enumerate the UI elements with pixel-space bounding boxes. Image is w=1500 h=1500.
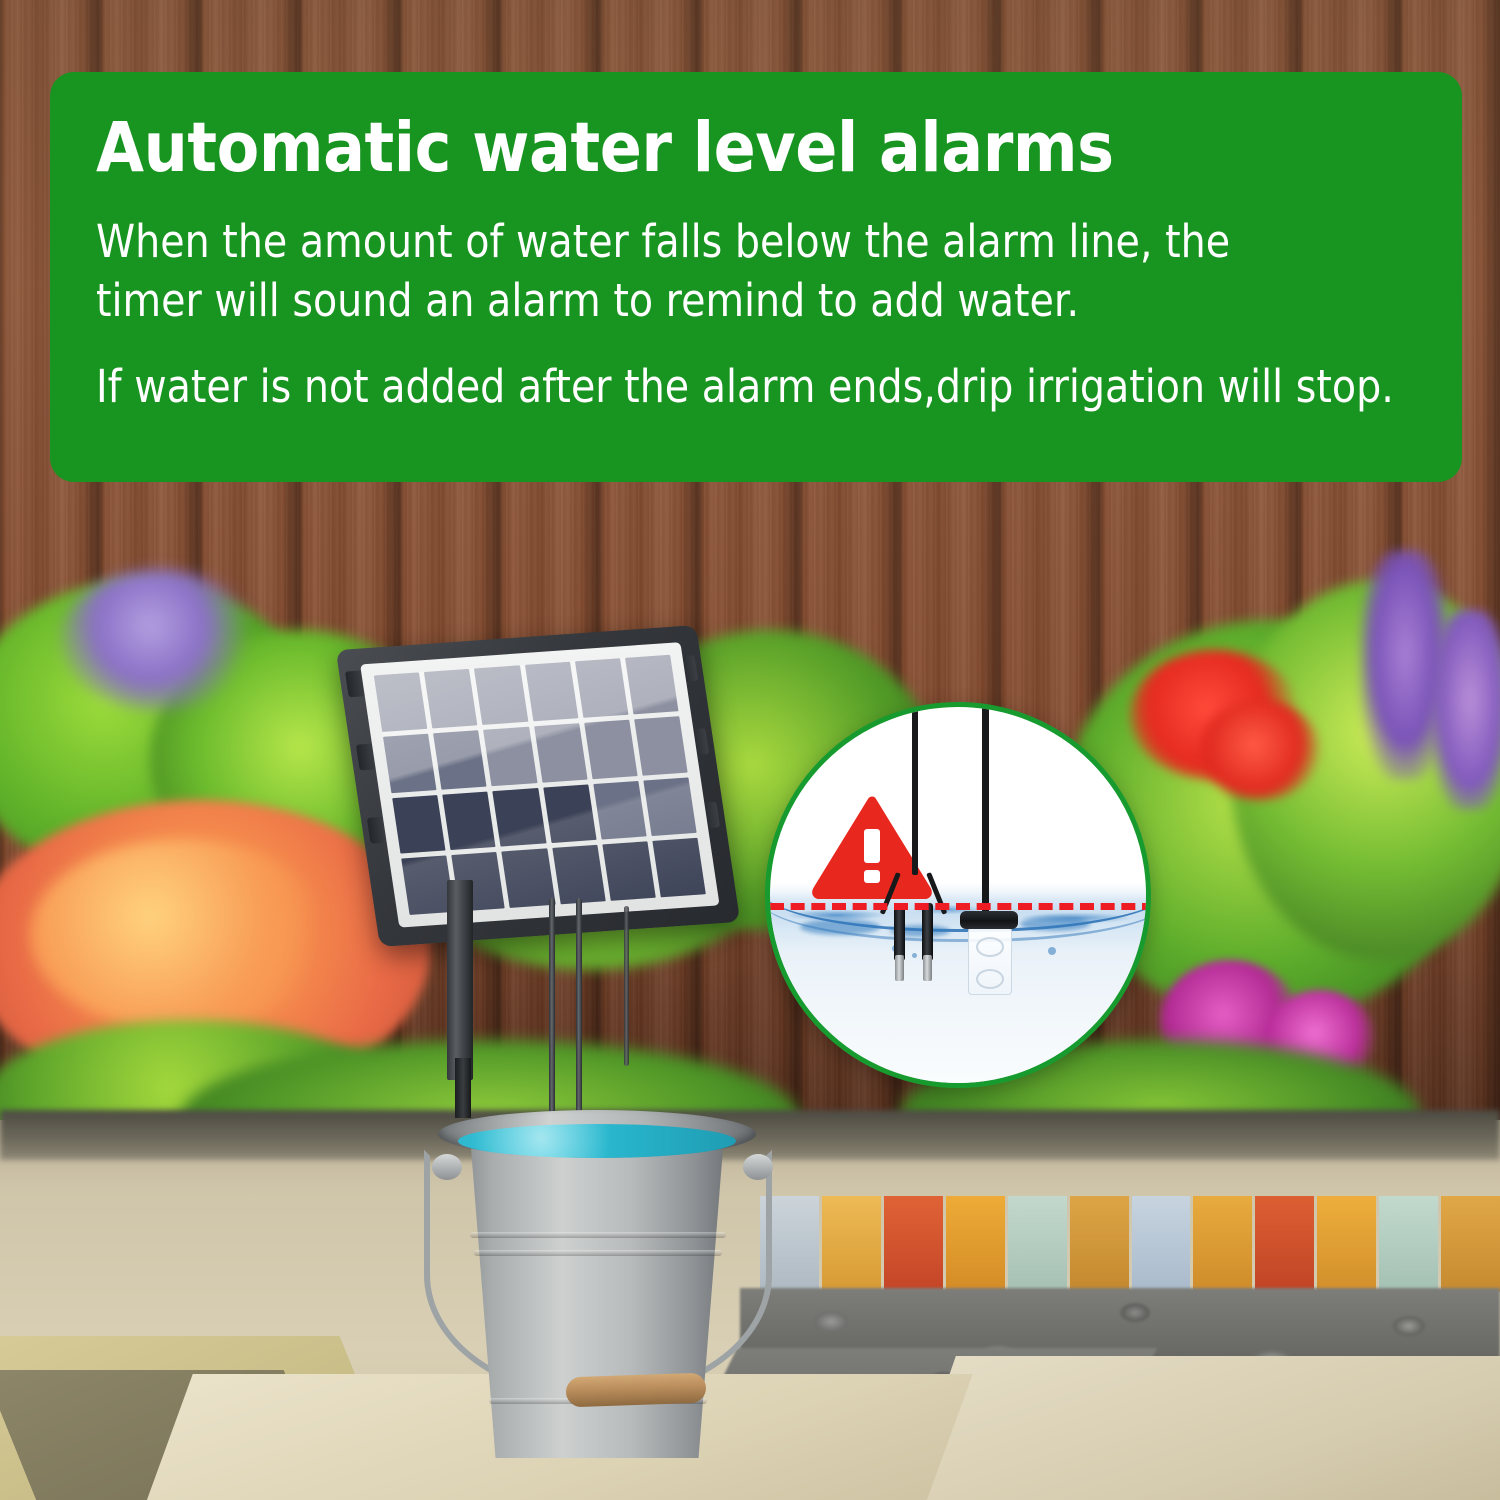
solar-cell-grid <box>374 655 706 915</box>
solar-cell <box>442 791 496 850</box>
probe-electrode-right <box>922 903 933 961</box>
solar-cell <box>383 733 437 792</box>
solar-cell <box>625 655 679 714</box>
product-feature-image: Automatic water level alarms When the am… <box>0 0 1500 1500</box>
solar-cell <box>474 665 528 724</box>
water-tube <box>624 906 629 1066</box>
brick <box>1008 1196 1067 1292</box>
banner-paragraph-1: When the amount of water falls below the… <box>96 213 1258 330</box>
probe-cable-main <box>912 703 918 875</box>
brick <box>1441 1196 1500 1292</box>
solar-cell <box>493 788 547 847</box>
solar-cell <box>652 838 706 897</box>
solar-cell <box>552 845 606 904</box>
solar-cell <box>593 780 647 839</box>
float-sensor-cap <box>960 911 1018 929</box>
bucket-rib <box>470 1232 726 1238</box>
bucket-handle-lug <box>743 1154 773 1180</box>
solar-cell <box>483 726 537 785</box>
brick <box>822 1196 881 1292</box>
banner-paragraph-2: If water is not added after the alarm en… <box>96 358 1258 417</box>
solar-cell <box>534 723 588 782</box>
galvanized-water-bucket <box>452 1128 742 1458</box>
solar-cell <box>392 795 446 854</box>
brick <box>884 1196 943 1292</box>
alarm-level-line <box>770 903 1151 910</box>
probe-electrode-left <box>894 903 905 961</box>
bucket-water-surface <box>458 1124 736 1158</box>
probe-electrode-tip-left <box>895 955 904 981</box>
solar-cell <box>584 719 638 778</box>
water-droplet <box>912 953 917 958</box>
solar-cell <box>502 849 556 908</box>
brick <box>1255 1196 1314 1292</box>
red-salvia-flowers-2 <box>1200 700 1320 800</box>
brick <box>1132 1196 1191 1292</box>
brick <box>1193 1196 1252 1292</box>
solar-cell <box>634 716 688 775</box>
bucket-handle-lug <box>432 1154 462 1180</box>
probe-cable-float <box>982 703 989 915</box>
purple-spike-flowers-2 <box>1430 610 1500 810</box>
solar-cell <box>543 784 597 843</box>
brick <box>946 1196 1005 1292</box>
solar-cell <box>433 730 487 789</box>
probe-electrode-tip-right <box>923 955 932 981</box>
solar-cell <box>524 662 578 721</box>
ground-stake-spike <box>455 1058 471 1118</box>
brick <box>1070 1196 1129 1292</box>
water-droplet <box>1048 947 1056 955</box>
solar-cell <box>643 777 697 836</box>
paving-slab-front <box>904 1356 1500 1500</box>
water-foam <box>800 919 880 935</box>
feature-banner: Automatic water level alarms When the am… <box>50 72 1462 482</box>
float-sensor-ring <box>976 937 1004 957</box>
solar-panel <box>336 625 741 947</box>
solar-panel-glass <box>360 642 720 927</box>
solar-cell <box>575 658 629 717</box>
brick <box>1379 1196 1438 1292</box>
water-level-alarm-closeup <box>765 702 1151 1088</box>
solar-cell <box>424 669 478 728</box>
page-title: Automatic water level alarms <box>96 114 1284 183</box>
brick <box>1317 1196 1376 1292</box>
float-sensor-ring <box>976 969 1004 989</box>
solar-cell <box>374 672 428 731</box>
water-foam <box>1020 917 1090 931</box>
wooden-handle-grip <box>566 1373 707 1408</box>
lavender-flowers-left <box>60 570 260 710</box>
solar-cell <box>602 842 656 901</box>
coleus-highlight <box>30 840 330 1030</box>
bucket-rib <box>474 1250 722 1256</box>
ground-stake-post <box>447 880 473 1080</box>
colored-brick-edging <box>760 1196 1500 1292</box>
